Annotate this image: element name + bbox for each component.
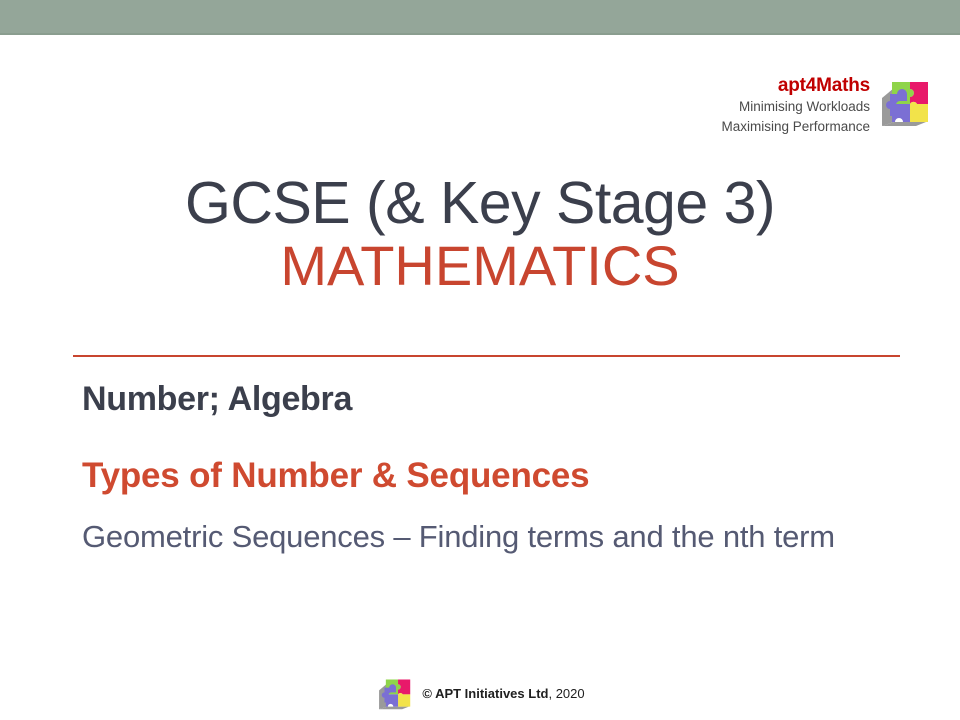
copyright-owner: © APT Initiatives Ltd (422, 686, 548, 701)
subject-heading: Types of Number & Sequences (82, 456, 912, 495)
slide-footer: © APT Initiatives Ltd, 2020 (0, 670, 960, 712)
slide-body: Number; Algebra Types of Number & Sequen… (82, 380, 912, 557)
puzzle-pieces-icon (876, 68, 938, 130)
top-accent-band (0, 0, 960, 35)
title-divider (73, 355, 900, 357)
copyright-year: , 2020 (548, 686, 584, 701)
copyright-notice: © APT Initiatives Ltd, 2020 (422, 682, 584, 701)
lesson-detail: Geometric Sequences – Finding terms and … (82, 517, 912, 557)
brand-block: apt4Maths Minimising Workloads Maximisin… (721, 68, 938, 136)
brand-name: apt4Maths (721, 76, 870, 96)
title-line-mathematics: MATHEMATICS (0, 236, 960, 296)
puzzle-pieces-icon (375, 670, 417, 712)
brand-tagline-line-1: Minimising Workloads (721, 98, 870, 116)
brand-text: apt4Maths Minimising Workloads Maximisin… (721, 68, 870, 136)
topic-heading: Number; Algebra (82, 380, 912, 418)
slide-title: GCSE (& Key Stage 3) MATHEMATICS (0, 172, 960, 296)
brand-tagline-line-2: Maximising Performance (721, 118, 870, 136)
title-line-qualification: GCSE (& Key Stage 3) (0, 172, 960, 236)
